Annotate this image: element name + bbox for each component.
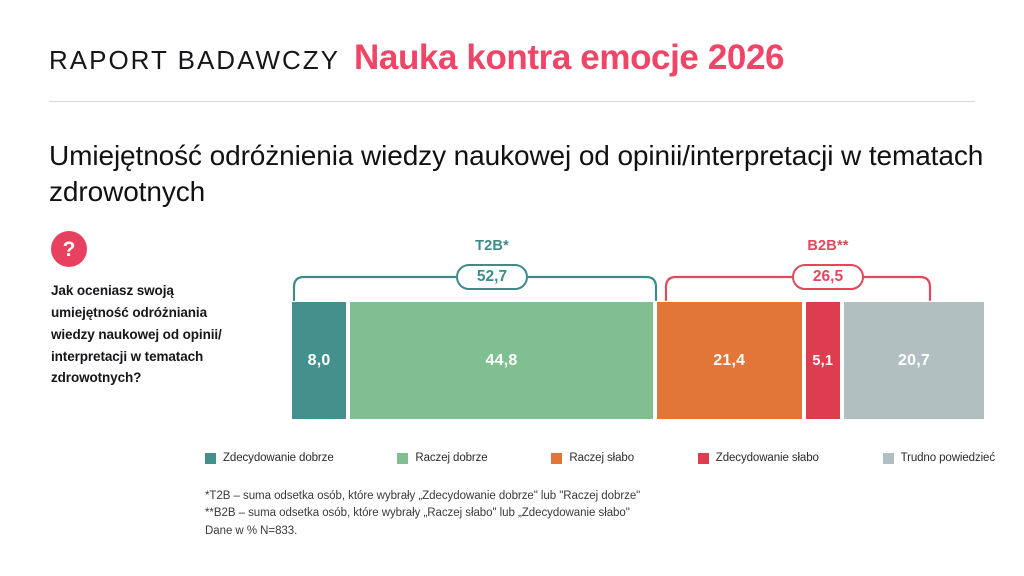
header-divider bbox=[49, 101, 975, 102]
footnote-t2b: *T2B – suma odsetka osób, które wybrały … bbox=[205, 488, 905, 505]
report-brand-title: Nauka kontra emocje 2026 bbox=[354, 38, 784, 78]
legend-swatch-icon bbox=[397, 453, 408, 464]
t2b-value-pill: 52,7 bbox=[456, 264, 528, 290]
report-header: RAPORT BADAWCZY Nauka kontra emocje 2026 bbox=[49, 38, 975, 78]
legend-swatch-icon bbox=[551, 453, 562, 464]
footnote-b2b: **B2B – suma odsetka osób, które wybrały… bbox=[205, 505, 905, 522]
bracket-layer: T2B* 52,7 B2B** 26,5 bbox=[292, 235, 984, 301]
legend-item[interactable]: Raczej dobrze bbox=[397, 452, 487, 464]
question-mark-icon: ? bbox=[51, 231, 87, 267]
legend-item[interactable]: Zdecydowanie dobrze bbox=[205, 452, 334, 464]
t2b-label: T2B* bbox=[456, 238, 528, 254]
legend-label: Zdecydowanie dobrze bbox=[223, 452, 334, 464]
question-text: Jak oceniasz swoją umiejętność odróżnian… bbox=[51, 280, 241, 389]
legend-swatch-icon bbox=[883, 453, 894, 464]
legend-label: Trudno powiedzieć bbox=[901, 452, 995, 464]
bar-segment: 5,1 bbox=[806, 302, 840, 419]
bar-segment: 21,4 bbox=[657, 302, 802, 419]
legend-label: Zdecydowanie słabo bbox=[716, 452, 819, 464]
page-title: Umiejętność odróżnienia wiedzy naukowej … bbox=[49, 138, 999, 210]
chart-footnotes: *T2B – suma odsetka osób, które wybrały … bbox=[205, 488, 905, 540]
bar-segment: 8,0 bbox=[292, 302, 346, 419]
footnote-sample: Dane w % N=833. bbox=[205, 523, 905, 540]
bar-track: 8,044,821,45,120,7 bbox=[292, 302, 984, 419]
legend-label: Raczej dobrze bbox=[415, 452, 487, 464]
legend-item[interactable]: Trudno powiedzieć bbox=[883, 452, 995, 464]
legend-item[interactable]: Raczej słabo bbox=[551, 452, 634, 464]
stacked-bar-chart: T2B* 52,7 B2B** 26,5 8,044,821,45,120,7 bbox=[292, 235, 984, 425]
b2b-value-pill: 26,5 bbox=[792, 264, 864, 290]
b2b-label: B2B** bbox=[792, 238, 864, 254]
legend-label: Raczej słabo bbox=[569, 452, 634, 464]
bar-segment: 44,8 bbox=[350, 302, 653, 419]
report-kicker: RAPORT BADAWCZY bbox=[49, 45, 340, 76]
question-block: ? Jak oceniasz swoją umiejętność odróżni… bbox=[51, 231, 241, 389]
legend-swatch-icon bbox=[205, 453, 216, 464]
legend-swatch-icon bbox=[698, 453, 709, 464]
legend-item[interactable]: Zdecydowanie słabo bbox=[698, 452, 819, 464]
chart-legend: Zdecydowanie dobrzeRaczej dobrzeRaczej s… bbox=[205, 452, 995, 464]
bar-segment: 20,7 bbox=[844, 302, 984, 419]
